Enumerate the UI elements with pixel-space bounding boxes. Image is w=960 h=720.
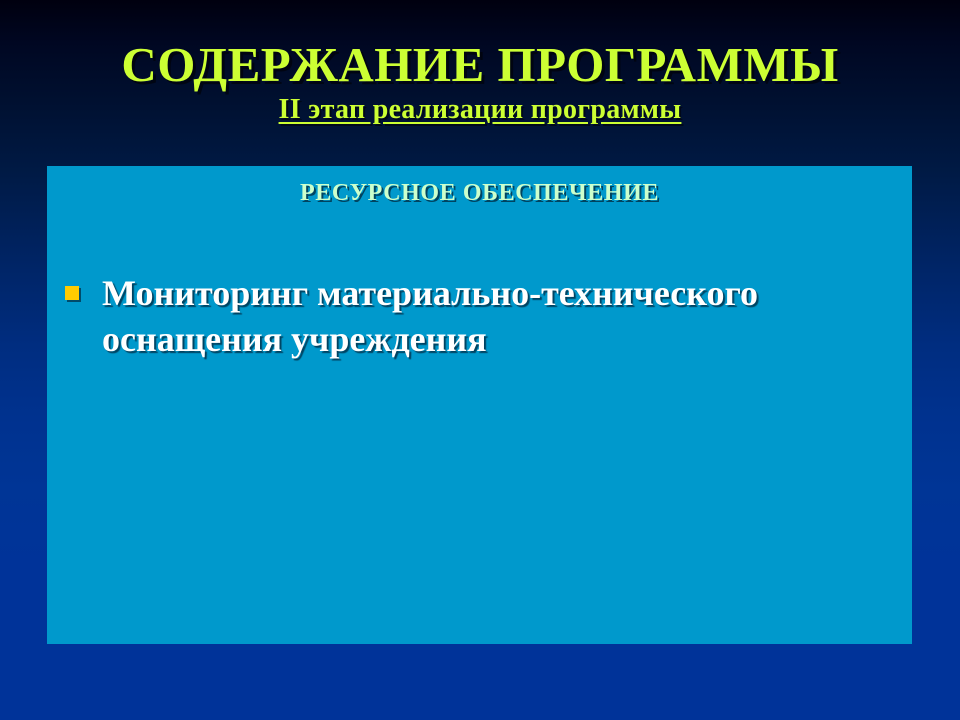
- presentation-slide: СОДЕРЖАНИЕ ПРОГРАММЫ II этап реализации …: [0, 0, 960, 720]
- content-panel: РЕСУРСНОЕ ОБЕСПЕЧЕНИЕ Мониторинг материа…: [47, 166, 912, 644]
- bullet-list: Мониторинг материально-технического осна…: [57, 270, 898, 362]
- slide-title-block: СОДЕРЖАНИЕ ПРОГРАММЫ II этап реализации …: [0, 40, 960, 126]
- list-item-label: Мониторинг материально-технического осна…: [102, 270, 898, 362]
- list-item: Мониторинг материально-технического осна…: [57, 270, 898, 362]
- panel-heading: РЕСУРСНОЕ ОБЕСПЕЧЕНИЕ: [47, 180, 912, 207]
- page-title: СОДЕРЖАНИЕ ПРОГРАММЫ: [0, 40, 960, 90]
- slide-subtitle: II этап реализации программы: [0, 95, 960, 126]
- square-bullet-icon: [65, 286, 79, 300]
